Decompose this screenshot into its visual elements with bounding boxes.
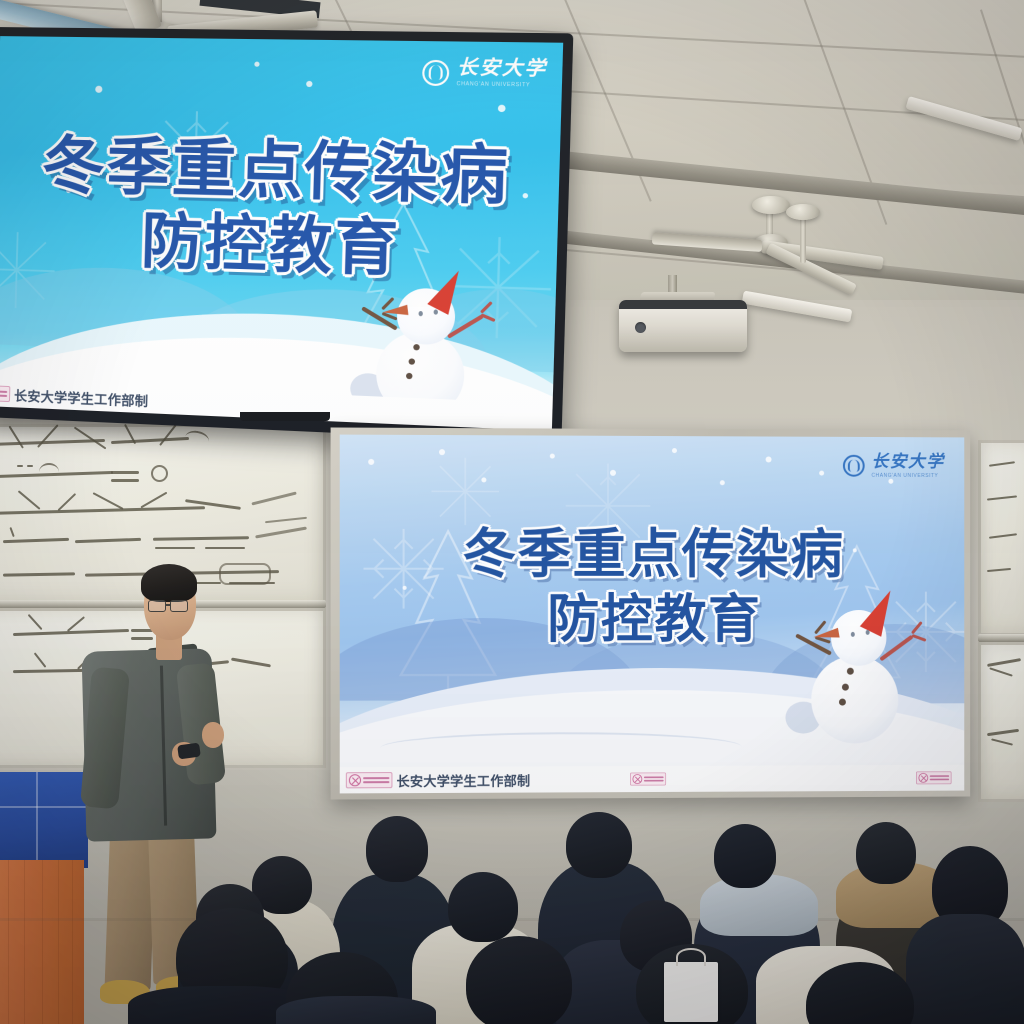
watermark-badge — [916, 771, 952, 784]
no-entry-icon — [349, 774, 361, 786]
presenter-glasses — [170, 600, 188, 612]
projection-screen[interactable]: 长安大学 Chang'an University 冬季重点传染病 防控教育 — [331, 427, 971, 799]
lectern-body[interactable] — [0, 860, 84, 1024]
slide-artwork-tv: 长安大学 Chang'an University 冬季重点传染病 防控教育 — [0, 36, 563, 431]
presenter-hair — [141, 564, 197, 602]
slide-credit-bar: 长安大学学生工作部制 — [340, 765, 965, 794]
slide-credit-text: 长安大学学生工作部制 — [14, 385, 149, 410]
snowman-hat-icon — [427, 265, 469, 314]
tv-mount-foot — [240, 412, 330, 421]
classroom-photo: 长安大学 Chang'an University 冬季重点传染病 防控教育 — [0, 0, 1024, 1024]
wall-mounted-tv[interactable]: 长安大学 Chang'an University 冬季重点传染病 防控教育 — [0, 27, 573, 443]
paper-bag — [664, 962, 718, 1022]
university-wordmark: 长安大学 — [457, 58, 548, 79]
watermark-badge — [346, 772, 393, 788]
slide-title: 冬季重点传染病 防控教育 — [0, 132, 560, 288]
snowflake-icon — [427, 453, 504, 530]
whiteboard-right-lower — [978, 642, 1024, 802]
no-entry-icon — [632, 774, 642, 784]
projector-lens-icon — [635, 322, 646, 333]
whiteboard-tray-right — [978, 634, 1024, 642]
university-logo: 长安大学 Chang'an University — [843, 453, 945, 479]
university-subword: Chang'an University — [871, 473, 944, 479]
presenter-glasses — [148, 600, 166, 612]
tv-screen[interactable]: 长安大学 Chang'an University 冬季重点传染病 防控教育 — [0, 36, 563, 431]
university-subword: Chang'an University — [456, 81, 546, 89]
lectern-top[interactable] — [0, 772, 88, 868]
presenter-hand-right — [202, 722, 224, 748]
slide-artwork-projection: 长安大学 Chang'an University 冬季重点传染病 防控教育 — [340, 435, 965, 794]
university-logo: 长安大学 Chang'an University — [422, 58, 547, 89]
watermark-badge — [0, 384, 10, 402]
slide-title-line-1: 冬季重点传染病 — [0, 132, 560, 214]
slide-title-line-1: 冬季重点传染病 — [340, 525, 965, 583]
slide-credit-text: 长安大学学生工作部制 — [397, 770, 531, 790]
ceiling-projector — [619, 300, 747, 352]
presenter-glasses-bridge — [166, 604, 170, 606]
whiteboard-right-upper — [978, 440, 1024, 636]
university-emblem-icon — [422, 59, 450, 85]
university-wordmark: 长安大学 — [871, 453, 944, 470]
projection-screen-surface[interactable]: 长安大学 Chang'an University 冬季重点传染病 防控教育 — [340, 435, 965, 794]
watermark-badge — [630, 772, 666, 785]
no-entry-icon — [918, 773, 928, 783]
snowman-illustration — [789, 594, 922, 743]
university-emblem-icon — [843, 455, 865, 477]
